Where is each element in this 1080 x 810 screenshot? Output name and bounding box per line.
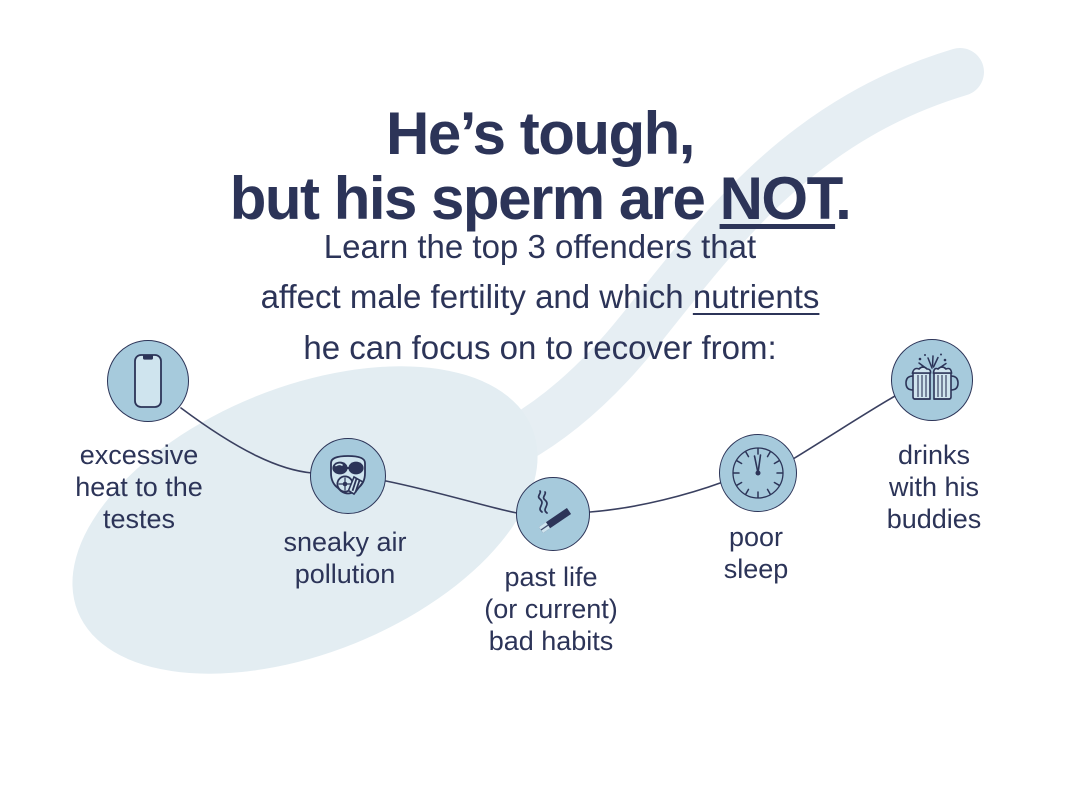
page-title: He’s tough, but his sperm are NOT. (0, 102, 1080, 232)
smartphone-icon (126, 352, 170, 410)
subtitle-emphasis: nutrients (693, 278, 820, 315)
node-label-air-pollution: sneaky air pollution (283, 527, 406, 591)
label-line: sleep (724, 554, 789, 586)
subtitle-line-1: Learn the top 3 offenders that (0, 222, 1080, 272)
node-label-poor-sleep: poor sleep (724, 522, 789, 586)
label-line: poor (724, 522, 789, 554)
label-line: heat to the (75, 472, 203, 504)
cigarette-icon (527, 488, 579, 540)
node-circle-poor-sleep[interactable] (719, 434, 797, 512)
node-circle-drinks-buddies[interactable] (891, 339, 973, 421)
clock-icon (728, 443, 788, 503)
label-line: (or current) (484, 594, 618, 626)
label-line: past life (484, 562, 618, 594)
label-line: testes (75, 504, 203, 536)
node-label-drinks-buddies: drinks with his buddies (887, 440, 982, 536)
label-line: with his (887, 472, 982, 504)
label-line: pollution (283, 559, 406, 591)
gas-mask-icon (321, 449, 375, 503)
label-line: buddies (887, 504, 982, 536)
headline-line-1: He’s tough, (0, 102, 1080, 167)
node-label-bad-habits: past life (or current) bad habits (484, 562, 618, 658)
subtitle-line-2-prefix: affect male fertility and which (261, 278, 693, 315)
node-label-excessive-heat: excessive heat to the testes (75, 440, 203, 536)
label-line: sneaky air (283, 527, 406, 559)
node-circle-air-pollution[interactable] (310, 438, 386, 514)
node-circle-excessive-heat[interactable] (107, 340, 189, 422)
node-circle-bad-habits[interactable] (516, 477, 590, 551)
beer-mugs-icon (903, 351, 961, 409)
label-line: excessive (75, 440, 203, 472)
subtitle-line-2: affect male fertility and which nutrient… (0, 272, 1080, 322)
label-line: drinks (887, 440, 982, 472)
label-line: bad habits (484, 626, 618, 658)
infographic-canvas: He’s tough, but his sperm are NOT. Learn… (0, 0, 1080, 810)
